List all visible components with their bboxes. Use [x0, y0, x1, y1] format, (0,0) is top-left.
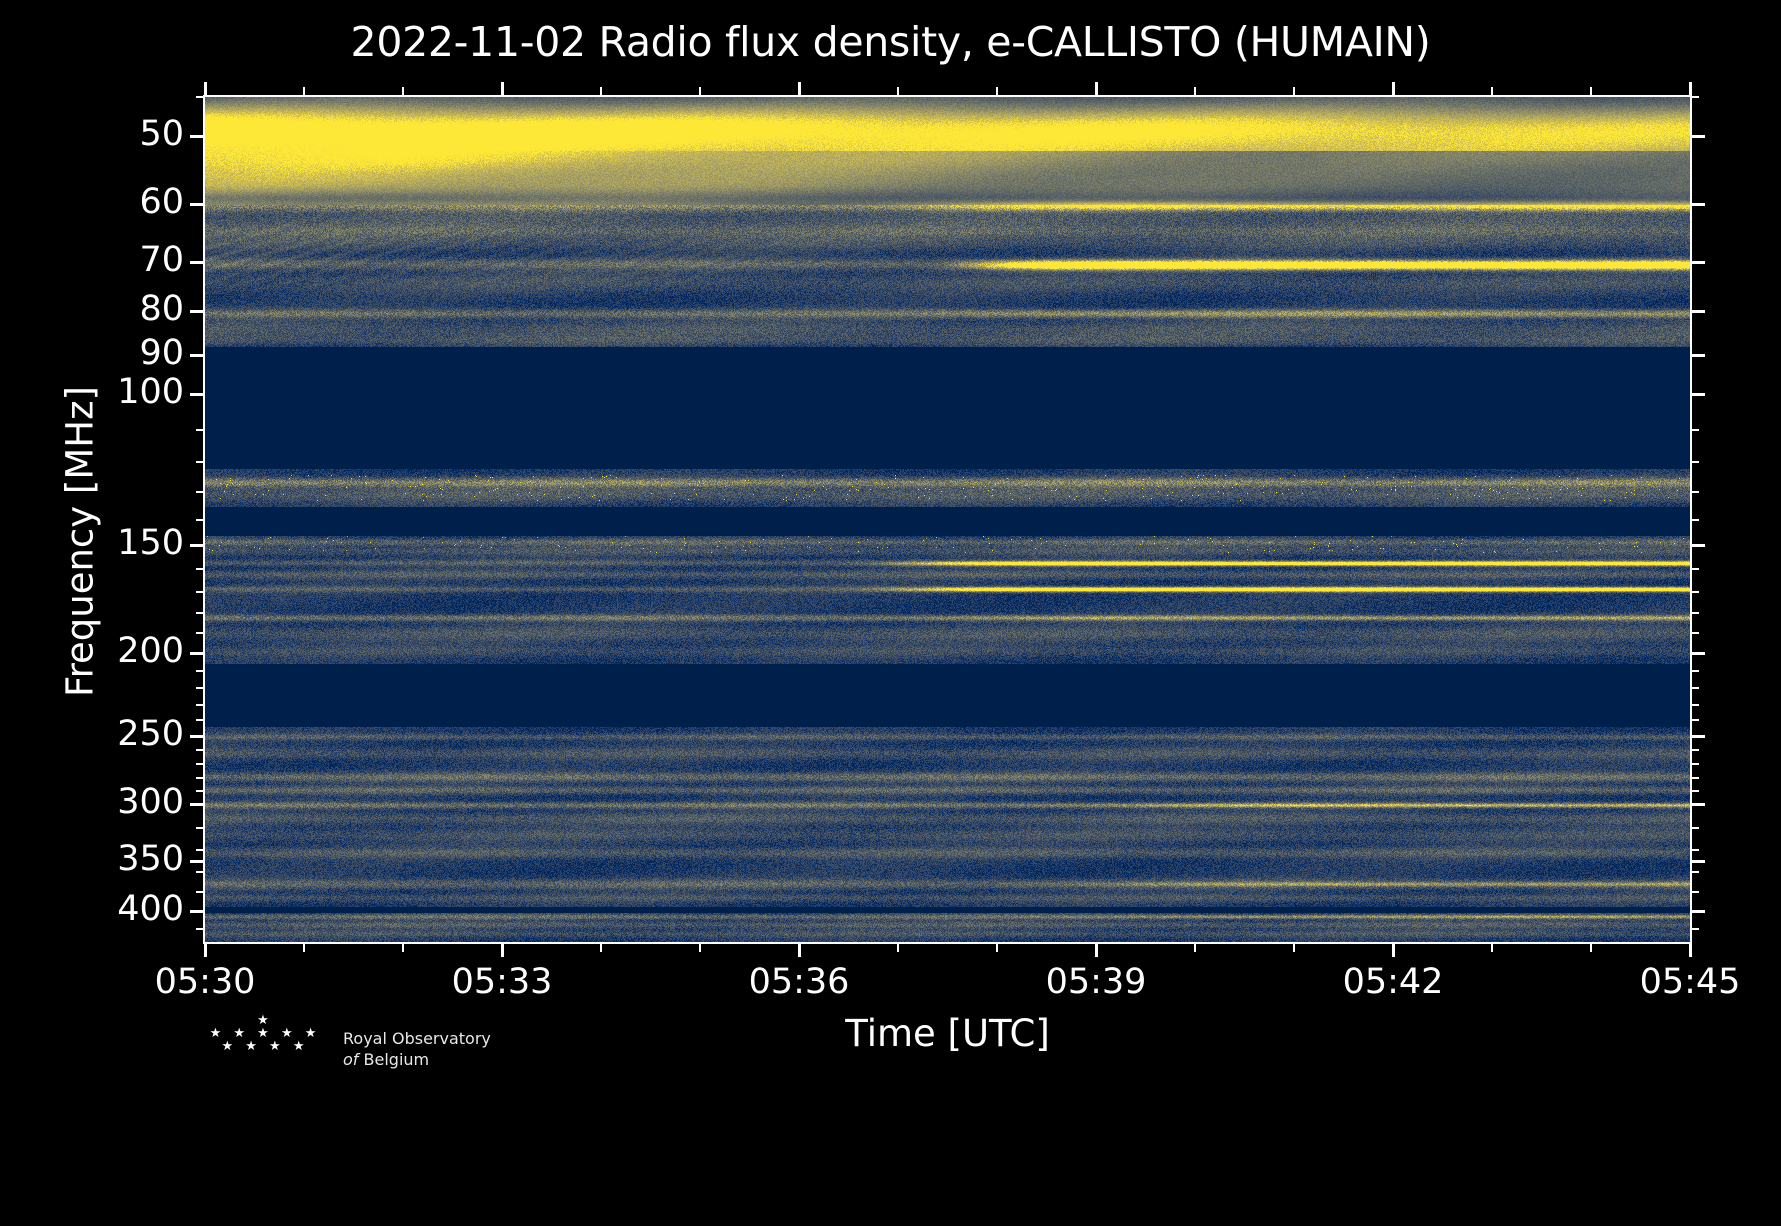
y-tick-right-400 — [1692, 910, 1705, 913]
y-tick-minor — [196, 491, 203, 493]
y-tick-minor-right — [1692, 790, 1699, 792]
x-tick-top-05:42 — [1392, 82, 1395, 95]
y-tick-200 — [190, 652, 203, 655]
spectrogram-plot-area[interactable] — [205, 97, 1690, 942]
y-tick-minor — [196, 871, 203, 873]
x-tick-minor — [303, 944, 305, 952]
y-tick-minor-right — [1692, 670, 1699, 672]
x-tick-label-05:36: 05:36 — [749, 962, 850, 1002]
axis-spine-left — [203, 95, 205, 944]
x-tick-05:42 — [1392, 944, 1395, 957]
x-tick-label-05:30: 05:30 — [155, 962, 256, 1002]
y-tick-minor — [196, 612, 203, 614]
y-tick-label-300: 300 — [117, 785, 184, 820]
x-tick-05:33 — [501, 944, 504, 957]
y-tick-minor-right — [1692, 891, 1699, 893]
x-tick-top-05:45 — [1689, 82, 1692, 95]
x-tick-minor-top — [1491, 87, 1493, 95]
y-tick-70 — [190, 261, 203, 264]
y-tick-minor — [196, 519, 203, 521]
y-tick-minor-right — [1692, 429, 1699, 431]
logo-star-row-3: ★ ★ ★ ★ — [200, 1040, 330, 1053]
y-tick-label-200: 200 — [117, 634, 184, 669]
x-tick-label-05:45: 05:45 — [1640, 962, 1741, 1002]
x-tick-05:30 — [204, 944, 207, 957]
y-tick-minor — [196, 704, 203, 706]
y-tick-minor — [196, 719, 203, 721]
x-tick-minor — [1590, 944, 1592, 952]
x-tick-minor — [699, 944, 701, 952]
x-tick-minor — [1194, 944, 1196, 952]
y-tick-minor — [196, 827, 203, 829]
y-tick-minor-right — [1692, 827, 1699, 829]
y-tick-250 — [190, 735, 203, 738]
y-tick-minor-right — [1692, 928, 1699, 930]
x-tick-minor-top — [1194, 87, 1196, 95]
y-tick-80 — [190, 310, 203, 313]
x-tick-top-05:36 — [798, 82, 801, 95]
y-tick-minor — [196, 763, 203, 765]
x-tick-minor-top — [897, 87, 899, 95]
x-tick-minor — [1293, 944, 1295, 952]
y-tick-label-50: 50 — [139, 117, 184, 152]
logo-stars-icon: ★ ★ ★ ★ ★ ★ ★ ★ ★ ★ — [200, 1014, 330, 1076]
x-tick-minor-top — [402, 87, 404, 95]
y-tick-minor — [196, 849, 203, 851]
y-tick-minor — [196, 429, 203, 431]
x-tick-minor-top — [699, 87, 701, 95]
logo-text-line2-wrap: of Belgium — [343, 1049, 491, 1070]
y-tick-minor-right — [1692, 719, 1699, 721]
y-tick-100 — [190, 393, 203, 396]
x-tick-minor-top — [303, 87, 305, 95]
y-tick-minor — [196, 591, 203, 593]
y-tick-minor — [196, 891, 203, 893]
logo-text-line2: Belgium — [364, 1050, 430, 1069]
x-tick-minor — [1491, 944, 1493, 952]
y-tick-minor-right — [1692, 591, 1699, 593]
y-tick-minor-right — [1692, 849, 1699, 851]
y-tick-150 — [190, 544, 203, 547]
y-tick-minor-right — [1692, 687, 1699, 689]
y-tick-minor-right — [1692, 777, 1699, 779]
logo-text: Royal Observatory of Belgium — [343, 1028, 491, 1070]
y-tick-minor — [196, 670, 203, 672]
y-tick-right-50 — [1692, 135, 1705, 138]
x-tick-minor — [402, 944, 404, 952]
axis-spine-bottom — [203, 942, 1692, 944]
x-tick-05:36 — [798, 944, 801, 957]
y-tick-label-70: 70 — [139, 243, 184, 278]
y-tick-minor — [196, 777, 203, 779]
radio-spectrogram-figure: 2022-11-02 Radio flux density, e-CALLIST… — [0, 0, 1781, 1226]
y-tick-right-200 — [1692, 652, 1705, 655]
x-tick-top-05:30 — [204, 82, 207, 95]
logo-text-of: of — [343, 1050, 358, 1069]
y-tick-right-300 — [1692, 803, 1705, 806]
x-tick-minor-top — [1293, 87, 1295, 95]
y-axis-label: Frequency [MHz] — [59, 292, 102, 792]
y-tick-label-400: 400 — [117, 892, 184, 927]
x-tick-label-05:33: 05:33 — [452, 962, 553, 1002]
y-tick-minor — [196, 96, 203, 98]
y-tick-300 — [190, 803, 203, 806]
page-title: 2022-11-02 Radio flux density, e-CALLIST… — [0, 18, 1781, 66]
y-tick-minor — [196, 632, 203, 634]
y-tick-minor-right — [1692, 491, 1699, 493]
y-tick-right-70 — [1692, 261, 1705, 264]
x-tick-minor — [996, 944, 998, 952]
y-tick-label-60: 60 — [139, 185, 184, 220]
x-tick-label-05:42: 05:42 — [1343, 962, 1444, 1002]
y-tick-right-150 — [1692, 544, 1705, 547]
y-tick-minor-right — [1692, 749, 1699, 751]
y-tick-minor — [196, 790, 203, 792]
y-tick-right-100 — [1692, 393, 1705, 396]
x-tick-05:39 — [1095, 944, 1098, 957]
y-tick-60 — [190, 203, 203, 206]
y-tick-minor-right — [1692, 568, 1699, 570]
y-tick-minor-right — [1692, 612, 1699, 614]
royal-observatory-logo: ★ ★ ★ ★ ★ ★ ★ ★ ★ ★ Royal Observatory of… — [200, 1014, 620, 1084]
x-tick-minor — [600, 944, 602, 952]
y-tick-label-350: 350 — [117, 842, 184, 877]
y-tick-minor-right — [1692, 461, 1699, 463]
y-tick-label-80: 80 — [139, 292, 184, 327]
x-tick-top-05:39 — [1095, 82, 1098, 95]
y-tick-label-90: 90 — [139, 336, 184, 371]
y-tick-right-60 — [1692, 203, 1705, 206]
y-tick-right-250 — [1692, 735, 1705, 738]
y-tick-minor — [196, 687, 203, 689]
spectrogram-image — [205, 97, 1690, 942]
x-tick-minor-top — [1590, 87, 1592, 95]
y-tick-label-250: 250 — [117, 717, 184, 752]
y-tick-label-150: 150 — [117, 526, 184, 561]
y-tick-right-80 — [1692, 310, 1705, 313]
y-tick-90 — [190, 354, 203, 357]
y-tick-minor-right — [1692, 763, 1699, 765]
y-tick-400 — [190, 910, 203, 913]
y-tick-minor — [196, 749, 203, 751]
y-tick-right-350 — [1692, 860, 1705, 863]
y-tick-minor-right — [1692, 96, 1699, 98]
y-tick-minor-right — [1692, 871, 1699, 873]
y-tick-right-90 — [1692, 354, 1705, 357]
x-tick-minor-top — [600, 87, 602, 95]
y-tick-minor — [196, 928, 203, 930]
y-tick-minor — [196, 568, 203, 570]
x-tick-label-05:39: 05:39 — [1046, 962, 1147, 1002]
x-tick-top-05:33 — [501, 82, 504, 95]
y-tick-minor-right — [1692, 519, 1699, 521]
y-tick-minor-right — [1692, 632, 1699, 634]
x-tick-minor-top — [996, 87, 998, 95]
logo-text-line1: Royal Observatory — [343, 1028, 491, 1049]
x-tick-minor — [897, 944, 899, 952]
y-tick-minor — [196, 461, 203, 463]
y-tick-50 — [190, 135, 203, 138]
y-tick-350 — [190, 860, 203, 863]
y-tick-minor-right — [1692, 704, 1699, 706]
x-tick-05:45 — [1689, 944, 1692, 957]
axis-spine-top — [203, 95, 1692, 97]
y-tick-label-100: 100 — [117, 375, 184, 410]
